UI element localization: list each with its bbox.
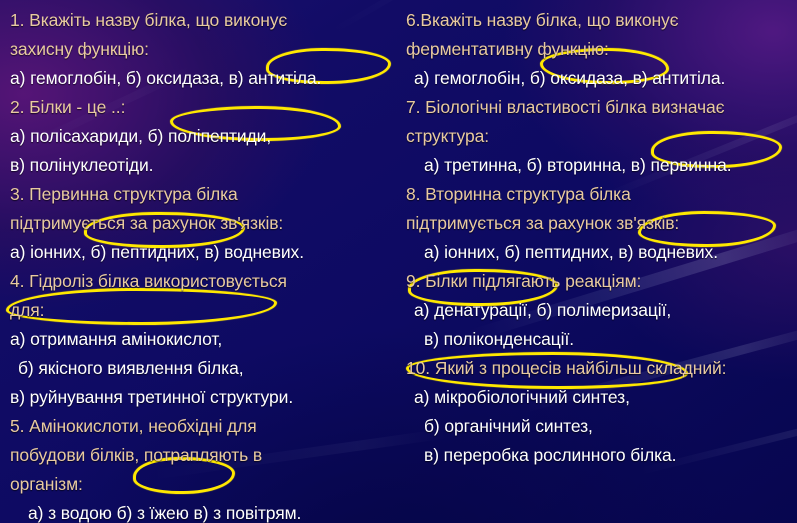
question-line: захисну функцію: — [10, 35, 394, 64]
question-line: 8. Вторинна структура білка — [406, 180, 793, 209]
answer-line: в) полінуклеотіди. — [10, 151, 394, 180]
answer-line: а) отримання амінокислот, — [10, 325, 394, 354]
answer-line: в) руйнування третинної структури. — [10, 383, 394, 412]
question-line: 9. Білки підлягають реакціям: — [406, 267, 793, 296]
question-line: 3. Первинна структура білка — [10, 180, 394, 209]
answer-line: в) поліконденсації. — [406, 325, 793, 354]
answer-line: б) якісного виявлення білка, — [10, 354, 394, 383]
question-line: 6.Вкажіть назву білка, що виконує — [406, 6, 793, 35]
quiz-slide: 1. Вкажіть назву білка, що виконує захис… — [0, 0, 797, 523]
answer-line: а) денатурації, б) полімеризації, — [406, 296, 793, 325]
answer-line: а) полісахариди, б) поліпептиди, — [10, 122, 394, 151]
answer-line: б) органічний синтез, — [406, 412, 793, 441]
left-question-column: 1. Вкажіть назву білка, що виконує захис… — [0, 0, 398, 523]
question-line: 5. Амінокислоти, необхідні для — [10, 412, 394, 441]
question-line: 1. Вкажіть назву білка, що виконує — [10, 6, 394, 35]
right-question-column: 6.Вкажіть назву білка, що виконує фермен… — [398, 0, 797, 470]
answer-line: а) третинна, б) вторинна, в) первинна. — [406, 151, 793, 180]
question-line: 4. Гідроліз білка використовується — [10, 267, 394, 296]
answer-line: а) гемоглобін, б) оксидаза, в) антитіла. — [10, 64, 394, 93]
question-line: структура: — [406, 122, 793, 151]
answer-line: а) з водою б) з їжею в) з повітрям. — [10, 499, 394, 523]
answer-line: а) гемоглобін, б) оксидаза, в) антитіла. — [406, 64, 793, 93]
question-line: 10. Який з процесів найбільш складний: — [406, 354, 793, 383]
question-line: ферментативну функцію: — [406, 35, 793, 64]
question-line: побудови білків, потрапляють в — [10, 441, 394, 470]
question-line: 2. Білки - це ..: — [10, 93, 394, 122]
question-line: 7. Біологічні властивості білка визначає — [406, 93, 793, 122]
answer-line: а) іонних, б) пептидних, в) водневих. — [406, 238, 793, 267]
question-line: підтримується за рахунок зв'язків: — [10, 209, 394, 238]
answer-line: а) мікробіологічний синтез, — [406, 383, 793, 412]
answer-line: в) переробка рослинного білка. — [406, 441, 793, 470]
question-line: для: — [10, 296, 394, 325]
answer-line: а) іонних, б) пептидних, в) водневих. — [10, 238, 394, 267]
question-line: організм: — [10, 470, 394, 499]
question-line: підтримується за рахунок зв'язків: — [406, 209, 793, 238]
